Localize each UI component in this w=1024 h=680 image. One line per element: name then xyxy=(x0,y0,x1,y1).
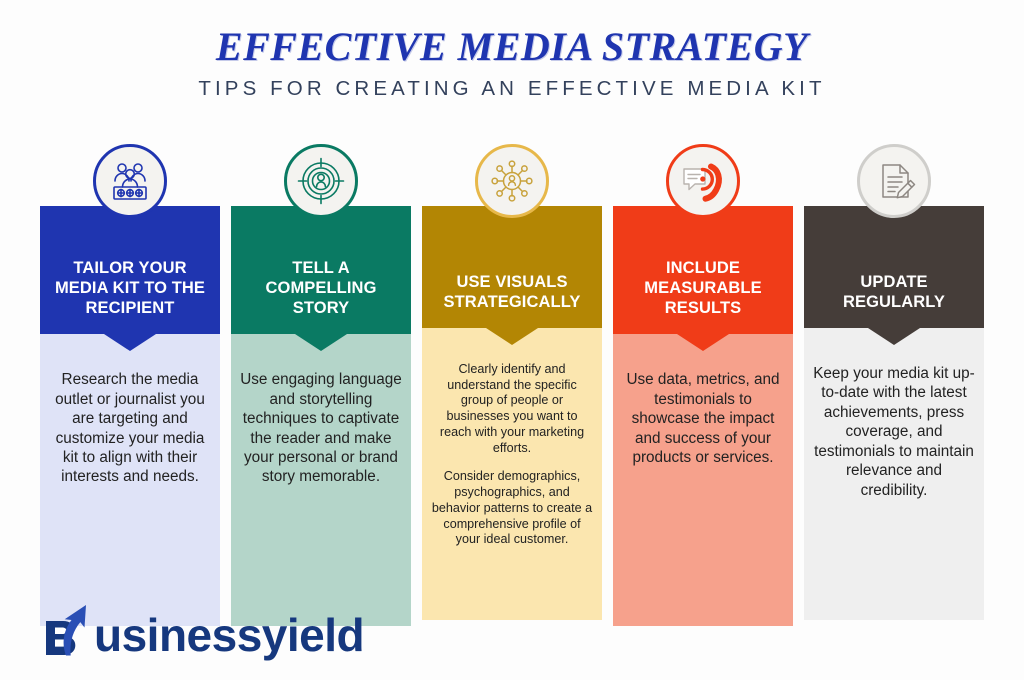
column-body: Clearly identify and understand the spec… xyxy=(422,328,602,620)
page-title: EFFECTIVE MEDIA STRATEGY xyxy=(0,26,1024,68)
column-title: INCLUDE MEASURABLE RESULTS xyxy=(619,258,787,318)
target-person-icon xyxy=(284,144,358,218)
page-subtitle: TIPS FOR CREATING AN EFFECTIVE MEDIA KIT xyxy=(0,78,1024,101)
column-header-band: INCLUDE MEASURABLE RESULTS xyxy=(613,206,793,334)
column-title: UPDATE REGULARLY xyxy=(810,272,978,312)
column-paragraph: Use engaging language and storytelling t… xyxy=(239,370,403,487)
column-header-band: USE VISUALS STRATEGICALLY xyxy=(422,206,602,328)
column-title: TAILOR YOUR MEDIA KIT TO THE RECIPIENT xyxy=(46,258,214,318)
logo-b-arrow-icon xyxy=(42,603,98,667)
column-paragraph: Research the media outlet or journalist … xyxy=(48,370,212,487)
column-compelling-story[interactable]: TELL A COMPELLING STORY Use engaging lan… xyxy=(231,144,411,626)
column-tailor-media-kit[interactable]: TAILOR YOUR MEDIA KIT TO THE RECIPIENT R… xyxy=(40,144,220,626)
page-header: EFFECTIVE MEDIA STRATEGY TIPS FOR CREATI… xyxy=(0,26,1024,101)
column-title: TELL A COMPELLING STORY xyxy=(237,258,405,318)
audience-group-icon xyxy=(93,144,167,218)
column-header-band: TELL A COMPELLING STORY xyxy=(231,206,411,334)
column-header-band: TAILOR YOUR MEDIA KIT TO THE RECIPIENT xyxy=(40,206,220,334)
column-header-band: UPDATE REGULARLY xyxy=(804,206,984,328)
chat-bubble-phone-icon xyxy=(666,144,740,218)
column-measurable-results[interactable]: INCLUDE MEASURABLE RESULTS Use data, met… xyxy=(613,144,793,626)
column-paragraph: Consider demographics, psychographics, a… xyxy=(430,469,594,548)
column-paragraph: Clearly identify and understand the spec… xyxy=(430,362,594,456)
column-body: Keep your media kit up-to-date with the … xyxy=(804,328,984,620)
network-hub-person-icon xyxy=(475,144,549,218)
column-title: USE VISUALS STRATEGICALLY xyxy=(428,272,596,312)
businessyield-logo[interactable]: usinessyield xyxy=(42,602,364,668)
logo-wordmark: usinessyield xyxy=(94,612,364,658)
column-use-visuals[interactable]: USE VISUALS STRATEGICALLY Clearly identi… xyxy=(422,144,602,620)
column-paragraph: Keep your media kit up-to-date with the … xyxy=(812,364,976,500)
column-body: Use data, metrics, and testimonials to s… xyxy=(613,334,793,626)
column-update-regularly[interactable]: UPDATE REGULARLY Keep your media kit up-… xyxy=(804,144,984,620)
document-pencil-icon xyxy=(857,144,931,218)
column-body: Use engaging language and storytelling t… xyxy=(231,334,411,626)
strategy-columns: TAILOR YOUR MEDIA KIT TO THE RECIPIENT R… xyxy=(40,144,984,588)
column-body: Research the media outlet or journalist … xyxy=(40,334,220,626)
column-paragraph: Use data, metrics, and testimonials to s… xyxy=(621,370,785,467)
